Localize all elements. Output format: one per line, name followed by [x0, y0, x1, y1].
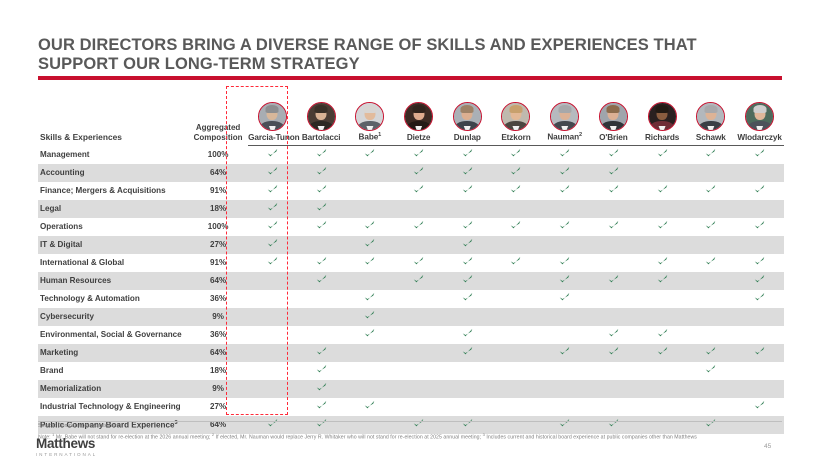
check-icon	[705, 256, 716, 267]
skills-matrix: Skills & Experiences Aggregated Composit…	[38, 86, 784, 434]
check-icon	[608, 418, 619, 429]
page-title-text: OUR DIRECTORS BRING A DIVERSE RANGE OF S…	[38, 36, 778, 74]
checkmark-cell-empty	[248, 308, 297, 326]
director-name-footnote: 2	[579, 132, 582, 138]
checkmark-cell-filled	[297, 398, 346, 416]
checkmark-cell-filled	[248, 145, 297, 164]
table-row: Legal18%	[38, 200, 784, 218]
checkmark-cell-empty	[492, 290, 541, 308]
checkmark-cell-filled	[540, 272, 589, 290]
director-photo-10	[735, 86, 784, 132]
director-photo-1	[297, 86, 346, 132]
check-icon	[364, 310, 375, 321]
checkmark-cell-filled	[297, 164, 346, 182]
checkmark-cell-filled	[297, 380, 346, 398]
check-icon	[462, 274, 473, 285]
note-2-text: If elected, Mr. Nauman would replace Jer…	[214, 435, 482, 441]
checkmark-cell-empty	[394, 344, 443, 362]
aggregated-composition-value: 64%	[188, 272, 248, 290]
checkmark-cell-filled	[540, 218, 589, 236]
checkmark-cell-empty	[443, 398, 492, 416]
checkmark-cell-empty	[638, 290, 687, 308]
checkmark-cell-empty	[394, 398, 443, 416]
table-row: Memorialization9%	[38, 380, 784, 398]
avatar	[355, 102, 384, 131]
skill-label: Brand	[38, 362, 188, 380]
checkmark-cell-empty	[346, 272, 395, 290]
avatar	[307, 102, 336, 131]
skills-table: Skills & Experiences Aggregated Composit…	[38, 86, 784, 434]
check-icon	[559, 274, 570, 285]
checkmark-cell-empty	[735, 308, 784, 326]
avatar	[648, 102, 677, 131]
check-icon	[316, 382, 327, 393]
checkmark-cell-filled	[540, 290, 589, 308]
agg-header-line1: Aggregated	[196, 123, 240, 132]
checkmark-cell-filled	[686, 344, 735, 362]
checkmark-cell-empty	[492, 308, 541, 326]
table-row: Technology & Automation36%	[38, 290, 784, 308]
agg-header-line2: Composition	[194, 133, 243, 142]
checkmark-cell-empty	[540, 326, 589, 344]
checkmark-cell-filled	[346, 326, 395, 344]
aggregated-composition-value: 18%	[188, 362, 248, 380]
check-icon	[316, 202, 327, 213]
check-icon	[364, 400, 375, 411]
checkmark-cell-filled	[735, 344, 784, 362]
checkmark-cell-empty	[735, 362, 784, 380]
checkmark-cell-empty	[492, 344, 541, 362]
checkmark-cell-filled	[735, 145, 784, 164]
checkmark-cell-filled	[443, 290, 492, 308]
check-icon	[608, 220, 619, 231]
checkmark-cell-filled	[492, 218, 541, 236]
checkmark-cell-empty	[394, 200, 443, 218]
checkmark-cell-filled	[686, 362, 735, 380]
avatar	[599, 102, 628, 131]
checkmark-cell-empty	[686, 380, 735, 398]
slide-canvas: OUR DIRECTORS BRING A DIVERSE RANGE OF S…	[0, 0, 820, 461]
checkmark-cell-filled	[686, 145, 735, 164]
check-icon	[559, 166, 570, 177]
checkmark-cell-empty	[394, 236, 443, 254]
check-icon	[364, 148, 375, 159]
table-row: Industrial Technology & Engineering27%	[38, 398, 784, 416]
check-icon	[316, 418, 327, 429]
check-icon	[364, 256, 375, 267]
page-title: OUR DIRECTORS BRING A DIVERSE RANGE OF S…	[38, 36, 778, 74]
skill-label: Environmental, Social & Governance	[38, 326, 188, 344]
checkmark-cell-filled	[394, 272, 443, 290]
checkmark-cell-empty	[638, 236, 687, 254]
check-icon	[364, 292, 375, 303]
director-photo-3	[394, 86, 443, 132]
check-icon	[413, 148, 424, 159]
aggregated-composition-value: 64%	[188, 344, 248, 362]
check-icon	[316, 274, 327, 285]
skill-label: Management	[38, 145, 188, 164]
checkmark-cell-filled	[248, 182, 297, 200]
checkmark-cell-filled	[589, 164, 638, 182]
checkmark-cell-filled	[346, 236, 395, 254]
director-photo-5	[492, 86, 541, 132]
checkmark-cell-empty	[492, 380, 541, 398]
director-photo-row: Skills & Experiences Aggregated Composit…	[38, 86, 784, 132]
checkmark-cell-filled	[589, 326, 638, 344]
checkmark-cell-filled	[297, 362, 346, 380]
checkmark-cell-filled	[686, 218, 735, 236]
table-row: Finance; Mergers & Acquisitions91%	[38, 182, 784, 200]
skill-label: Technology & Automation	[38, 290, 188, 308]
checkmark-cell-empty	[638, 308, 687, 326]
avatar	[258, 102, 287, 131]
table-row: Marketing64%	[38, 344, 784, 362]
checkmark-cell-filled	[735, 254, 784, 272]
check-icon	[559, 220, 570, 231]
checkmark-cell-filled	[297, 182, 346, 200]
checkmark-cell-empty	[346, 362, 395, 380]
checkmark-cell-filled	[297, 272, 346, 290]
check-icon	[559, 256, 570, 267]
checkmark-cell-filled	[638, 326, 687, 344]
title-accent-rule	[38, 76, 782, 80]
checkmark-cell-filled	[346, 290, 395, 308]
checkmark-cell-filled	[297, 344, 346, 362]
checkmark-cell-empty	[248, 344, 297, 362]
checkmark-cell-filled	[735, 182, 784, 200]
check-icon	[462, 292, 473, 303]
checkmark-cell-empty	[589, 362, 638, 380]
checkmark-cell-empty	[248, 272, 297, 290]
avatar	[745, 102, 774, 131]
check-icon	[364, 220, 375, 231]
checkmark-cell-filled	[686, 182, 735, 200]
check-icon	[316, 346, 327, 357]
check-icon	[316, 166, 327, 177]
checkmark-cell-empty	[346, 380, 395, 398]
checkmark-cell-empty	[297, 326, 346, 344]
check-icon	[705, 346, 716, 357]
checkmark-cell-filled	[394, 145, 443, 164]
check-icon	[413, 256, 424, 267]
checkmark-cell-filled	[492, 254, 541, 272]
checkmark-cell-empty	[346, 182, 395, 200]
check-icon	[462, 166, 473, 177]
check-icon	[559, 184, 570, 195]
check-icon	[657, 328, 668, 339]
checkmark-cell-empty	[686, 290, 735, 308]
check-icon	[705, 364, 716, 375]
checkmark-cell-empty	[248, 290, 297, 308]
check-icon	[316, 148, 327, 159]
aggregated-composition-value: 100%	[188, 218, 248, 236]
checkmark-cell-empty	[735, 200, 784, 218]
checkmark-cell-empty	[492, 272, 541, 290]
checkmark-cell-filled	[346, 254, 395, 272]
check-icon	[657, 148, 668, 159]
check-icon	[316, 256, 327, 267]
check-icon	[705, 184, 716, 195]
checkmark-cell-empty	[540, 380, 589, 398]
aggregated-composition-value: 18%	[188, 200, 248, 218]
table-row: Cybersecurity9%	[38, 308, 784, 326]
check-icon	[462, 346, 473, 357]
skill-label: Human Resources	[38, 272, 188, 290]
checkmark-cell-empty	[638, 200, 687, 218]
check-icon	[754, 292, 765, 303]
checkmark-cell-filled	[735, 218, 784, 236]
aggregated-composition-value: 91%	[188, 254, 248, 272]
footnote-divider	[38, 421, 782, 422]
check-icon	[413, 274, 424, 285]
check-icon	[754, 220, 765, 231]
checkmark-cell-filled	[443, 326, 492, 344]
checkmark-cell-empty	[492, 326, 541, 344]
checkmark-cell-filled	[589, 272, 638, 290]
aggregated-composition-value: 27%	[188, 236, 248, 254]
checkmark-cell-empty	[297, 236, 346, 254]
checkmark-cell-empty	[248, 362, 297, 380]
checkmark-cell-empty	[443, 308, 492, 326]
skill-label: Memorialization	[38, 380, 188, 398]
checkmark-cell-filled	[346, 398, 395, 416]
checkmark-cell-filled	[443, 218, 492, 236]
checkmark-cell-filled	[443, 236, 492, 254]
check-icon	[705, 418, 716, 429]
table-row: IT & Digital27%	[38, 236, 784, 254]
check-icon	[559, 418, 570, 429]
check-icon	[754, 274, 765, 285]
checkmark-cell-filled	[248, 254, 297, 272]
skill-label: IT & Digital	[38, 236, 188, 254]
checkmark-cell-filled	[492, 182, 541, 200]
checkmark-cell-empty	[540, 362, 589, 380]
director-name-3: Dietze	[394, 132, 443, 145]
checkmark-cell-filled	[638, 254, 687, 272]
checkmark-cell-filled	[443, 254, 492, 272]
checkmark-cell-empty	[589, 398, 638, 416]
check-icon	[754, 256, 765, 267]
director-name-1: Bartolacci	[297, 132, 346, 145]
director-photo-9	[686, 86, 735, 132]
check-icon	[510, 220, 521, 231]
checkmark-cell-filled	[248, 218, 297, 236]
aggregated-composition-value: 27%	[188, 398, 248, 416]
director-photo-0	[248, 86, 297, 132]
checkmark-cell-filled	[443, 344, 492, 362]
checkmark-cell-empty	[443, 380, 492, 398]
avatar	[550, 102, 579, 131]
check-icon	[267, 418, 278, 429]
checkmark-cell-empty	[589, 308, 638, 326]
checkmark-cell-empty	[638, 362, 687, 380]
skill-label: Legal	[38, 200, 188, 218]
check-icon	[413, 418, 424, 429]
checkmark-cell-filled	[394, 182, 443, 200]
checkmark-cell-empty	[686, 200, 735, 218]
checkmark-cell-empty	[346, 164, 395, 182]
checkmark-cell-empty	[443, 200, 492, 218]
checkmark-cell-filled	[297, 145, 346, 164]
logo-tagline: INTERNATIONAL	[36, 452, 97, 457]
check-icon	[462, 328, 473, 339]
checkmark-cell-empty	[686, 326, 735, 344]
logo-wordmark: Matthews	[36, 437, 97, 451]
aggregated-composition-value: 9%	[188, 308, 248, 326]
checkmark-cell-empty	[735, 164, 784, 182]
check-icon	[316, 364, 327, 375]
page-number: 45	[764, 443, 771, 450]
check-icon	[316, 400, 327, 411]
check-icon	[364, 328, 375, 339]
check-icon	[705, 220, 716, 231]
checkmark-cell-filled	[540, 254, 589, 272]
source-note: Source: Company proxy statement	[38, 423, 119, 429]
aggregated-composition-value: 9%	[188, 380, 248, 398]
checkmark-cell-empty	[589, 200, 638, 218]
checkmark-cell-empty	[297, 290, 346, 308]
checkmark-cell-filled	[589, 145, 638, 164]
checkmark-cell-empty	[346, 200, 395, 218]
checkmark-cell-empty	[540, 308, 589, 326]
check-icon	[608, 148, 619, 159]
checkmark-cell-filled	[248, 200, 297, 218]
director-photo-7	[589, 86, 638, 132]
avatar	[501, 102, 530, 131]
table-row: Accounting64%	[38, 164, 784, 182]
checkmark-cell-filled	[443, 182, 492, 200]
checkmark-cell-filled	[540, 145, 589, 164]
checkmark-cell-filled	[589, 182, 638, 200]
director-name-footnote: 1	[378, 132, 381, 138]
checkmark-cell-filled	[638, 218, 687, 236]
checkmark-cell-filled	[443, 145, 492, 164]
director-name-9: Schawk	[686, 132, 735, 145]
check-icon	[754, 148, 765, 159]
checkmark-cell-filled	[297, 254, 346, 272]
checkmark-cell-empty	[540, 236, 589, 254]
checkmark-cell-empty	[686, 164, 735, 182]
checkmark-cell-empty	[686, 308, 735, 326]
director-name-2: Babe1	[346, 132, 395, 145]
avatar	[404, 102, 433, 131]
check-icon	[462, 184, 473, 195]
check-icon	[608, 328, 619, 339]
director-name-8: Richards	[638, 132, 687, 145]
checkmark-cell-filled	[589, 218, 638, 236]
checkmark-cell-filled	[735, 290, 784, 308]
checkmark-cell-empty	[492, 362, 541, 380]
table-row: Management100%	[38, 145, 784, 164]
checkmark-cell-filled	[638, 272, 687, 290]
checkmark-cell-empty	[248, 326, 297, 344]
checkmark-cell-filled	[297, 200, 346, 218]
check-icon	[559, 346, 570, 357]
checkmark-cell-empty	[394, 326, 443, 344]
checkmark-cell-filled	[248, 236, 297, 254]
check-icon	[267, 238, 278, 249]
check-icon	[559, 148, 570, 159]
checkmark-cell-empty	[394, 380, 443, 398]
checkmark-cell-filled	[540, 182, 589, 200]
checkmark-cell-filled	[394, 254, 443, 272]
table-row: Operations100%	[38, 218, 784, 236]
checkmark-cell-filled	[686, 254, 735, 272]
checkmark-cell-empty	[638, 380, 687, 398]
check-icon	[705, 148, 716, 159]
check-icon	[754, 184, 765, 195]
check-icon	[510, 148, 521, 159]
check-icon	[657, 346, 668, 357]
checkmark-cell-filled	[540, 164, 589, 182]
director-name-5: Etzkorn	[492, 132, 541, 145]
table-header: Skills & Experiences Aggregated Composit…	[38, 86, 784, 145]
checkmark-cell-empty	[443, 362, 492, 380]
check-icon	[657, 220, 668, 231]
check-icon	[462, 256, 473, 267]
checkmark-cell-empty	[735, 326, 784, 344]
avatar	[453, 102, 482, 131]
check-icon	[608, 184, 619, 195]
director-photo-8	[638, 86, 687, 132]
checkmark-cell-filled	[492, 145, 541, 164]
checkmark-cell-filled	[492, 164, 541, 182]
skill-label: Finance; Mergers & Acquisitions	[38, 182, 188, 200]
checkmark-cell-filled	[297, 218, 346, 236]
aggregated-composition-value: 36%	[188, 290, 248, 308]
table-row: International & Global91%	[38, 254, 784, 272]
skill-label: Marketing	[38, 344, 188, 362]
checkmark-cell-empty	[686, 272, 735, 290]
checkmark-cell-filled	[443, 272, 492, 290]
checkmark-cell-filled	[735, 398, 784, 416]
checkmark-cell-empty	[492, 200, 541, 218]
checkmark-cell-empty	[638, 398, 687, 416]
check-icon	[267, 148, 278, 159]
checkmark-cell-filled	[248, 164, 297, 182]
check-icon	[608, 274, 619, 285]
check-icon	[267, 166, 278, 177]
checkmark-cell-empty	[492, 236, 541, 254]
director-name-7: O'Brien	[589, 132, 638, 145]
skill-label: Operations	[38, 218, 188, 236]
check-icon	[364, 238, 375, 249]
aggregated-composition-header: Aggregated Composition	[188, 86, 248, 145]
table-row: Brand18%	[38, 362, 784, 380]
check-icon	[657, 274, 668, 285]
avatar	[696, 102, 725, 131]
skills-column-header: Skills & Experiences	[38, 86, 188, 145]
check-icon	[267, 184, 278, 195]
checkmark-cell-empty	[735, 380, 784, 398]
director-photo-4	[443, 86, 492, 132]
checkmark-cell-empty	[540, 398, 589, 416]
checkmark-cell-empty	[589, 380, 638, 398]
checkmark-cell-empty	[686, 398, 735, 416]
check-icon	[608, 346, 619, 357]
check-icon	[413, 184, 424, 195]
checkmark-cell-empty	[492, 398, 541, 416]
company-logo: Matthews INTERNATIONAL	[36, 437, 97, 457]
checkmark-cell-filled	[346, 218, 395, 236]
check-icon	[559, 292, 570, 303]
checkmark-cell-filled	[346, 308, 395, 326]
director-photo-2	[346, 86, 395, 132]
aggregated-composition-value: 36%	[188, 326, 248, 344]
checkmark-cell-filled	[540, 344, 589, 362]
checkmark-cell-empty	[248, 380, 297, 398]
checkmark-cell-empty	[589, 290, 638, 308]
